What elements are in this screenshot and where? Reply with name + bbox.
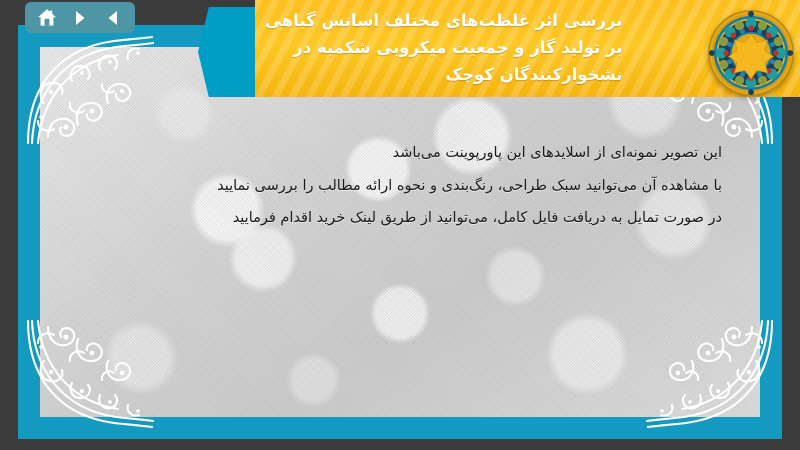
persian-medallion-icon bbox=[708, 10, 794, 96]
arrow-right-icon bbox=[71, 9, 89, 27]
banner-ribbon-tail bbox=[198, 7, 258, 97]
next-slide-button[interactable] bbox=[67, 6, 93, 30]
body-line-3: در صورت تمایل به دریافت فایل کامل، می‌تو… bbox=[78, 202, 722, 235]
slide-body-text: این تصویر نمونه‌ای از اسلایدهای این پاور… bbox=[78, 137, 722, 235]
prev-slide-button[interactable] bbox=[100, 6, 126, 30]
home-icon bbox=[37, 8, 57, 27]
body-line-1: این تصویر نمونه‌ای از اسلایدهای این پاور… bbox=[78, 137, 722, 170]
home-button[interactable] bbox=[34, 6, 60, 30]
viewer-nav-bar bbox=[25, 2, 135, 33]
slide-viewer: این تصویر نمونه‌ای از اسلایدهای این پاور… bbox=[0, 0, 800, 450]
body-line-2: با مشاهده آن می‌توانید سبک طراحی، رنگ‌بن… bbox=[78, 170, 722, 203]
arrow-left-icon bbox=[104, 9, 122, 27]
page-title: بررسی اثر غلظت‌های مختلف اسانس گیاهی بر … bbox=[265, 8, 623, 88]
slide-title-banner: بررسی اثر غلظت‌های مختلف اسانس گیاهی بر … bbox=[198, 0, 800, 104]
